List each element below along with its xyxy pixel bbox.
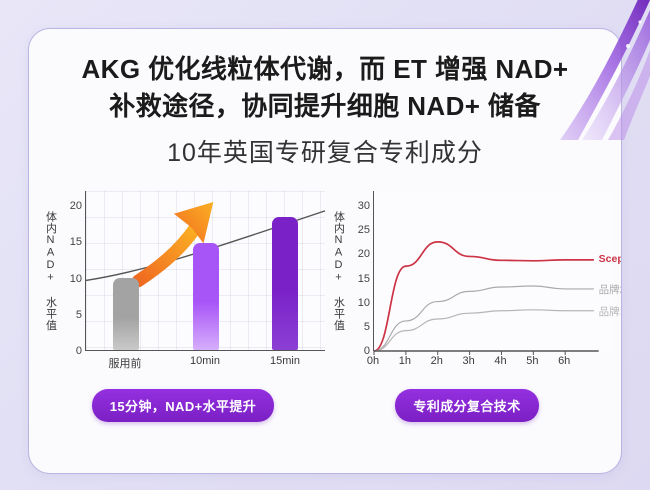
series-line-Scep <box>374 242 594 351</box>
legend-label-品牌2: 品牌2 <box>599 282 622 297</box>
x-tick-label: 1h <box>399 355 411 367</box>
chart-nad-sustain-line: 体内NAD+ 水平值 051015202530 Scep品牌2品牌1 0h1h2… <box>325 191 613 373</box>
y-tick-label: 20 <box>358 248 370 260</box>
y-tick-label: 30 <box>358 200 370 212</box>
y-tick-label: 10 <box>70 273 82 285</box>
x-tick-label: 4h <box>494 355 506 367</box>
y-tick-label: 0 <box>76 345 82 357</box>
bar-chart-x-labels: 服用前10min15min <box>85 351 325 373</box>
headline-line-2: 补救途径，协同提升细胞 NAD+ 储备 <box>29 88 621 125</box>
bar-服用前 <box>113 278 139 351</box>
line-chart-y-ticks: 051015202530 <box>351 191 373 351</box>
bar-chart-plot-area <box>85 191 325 351</box>
chart-nad-uptake-bar: 体内NAD+ 水平值 05101520 <box>37 191 325 373</box>
bar-chart-y-axis-title: 体内NAD+ 水平值 <box>37 191 63 351</box>
legend-label-Scep: Scep <box>599 253 622 265</box>
content-card: AKG 优化线粒体代谢，而 ET 增强 NAD+ 补救途径，协同提升细胞 NAD… <box>28 28 622 474</box>
pill-nad-boost[interactable]: 15分钟，NAD+水平提升 <box>92 389 274 422</box>
y-tick-label: 10 <box>358 297 370 309</box>
bar-chart-y-ticks: 05101520 <box>63 191 85 351</box>
line-chart-plot-area: Scep品牌2品牌1 <box>373 191 613 351</box>
y-tick-label: 15 <box>70 236 82 248</box>
headline-subtitle: 10年英国专研复合专利成分 <box>29 137 621 170</box>
x-tick-label: 3h <box>462 355 474 367</box>
series-line-品牌1 <box>374 310 594 351</box>
y-tick-label: 25 <box>358 224 370 236</box>
x-tick-label: 6h <box>558 355 570 367</box>
y-tick-label: 20 <box>70 200 82 212</box>
y-tick-label: 5 <box>76 309 82 321</box>
x-tick-label: 0h <box>367 355 379 367</box>
line-chart-series-svg <box>374 191 613 351</box>
x-tick-label: 5h <box>526 355 538 367</box>
caption-pills-row: 15分钟，NAD+水平提升 专利成分复合技术 <box>29 389 621 422</box>
x-tick-label: 15min <box>270 355 300 367</box>
line-chart-y-axis-title: 体内NAD+ 水平值 <box>325 191 351 351</box>
bar-15min <box>272 217 298 350</box>
x-tick-label: 服用前 <box>108 355 141 371</box>
bar-10min <box>193 243 219 350</box>
x-tick-label: 10min <box>190 355 220 367</box>
pill-col-right: 专利成分复合技术 <box>325 389 609 422</box>
x-tick-label: 2h <box>431 355 443 367</box>
charts-row: 体内NAD+ 水平值 05101520 <box>29 191 621 373</box>
headline-line-1: AKG 优化线粒体代谢，而 ET 增强 NAD+ <box>29 51 621 88</box>
line-chart-x-labels: 0h1h2h3h4h5h6h <box>373 351 613 373</box>
pill-patent-tech[interactable]: 专利成分复合技术 <box>395 389 538 422</box>
pill-col-left: 15分钟，NAD+水平提升 <box>41 389 325 422</box>
y-tick-label: 5 <box>364 321 370 333</box>
legend-label-品牌1: 品牌1 <box>599 304 622 319</box>
growth-arrow-icon <box>124 198 244 297</box>
series-line-品牌2 <box>374 286 594 351</box>
headline-block: AKG 优化线粒体代谢，而 ET 增强 NAD+ 补救途径，协同提升细胞 NAD… <box>29 29 621 169</box>
y-tick-label: 15 <box>358 273 370 285</box>
